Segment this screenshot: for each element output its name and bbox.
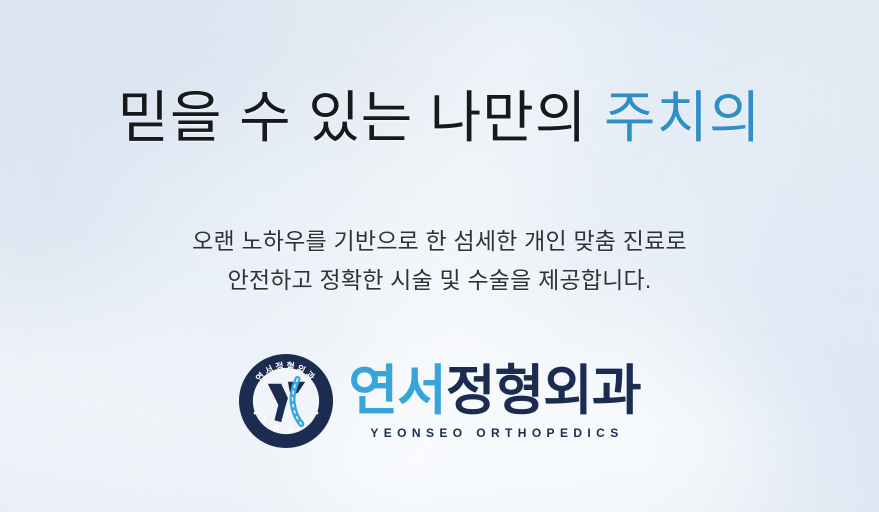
wordmark-part-light: 연서: [348, 361, 445, 421]
wordmark-part-dark: 정형외과: [446, 361, 641, 421]
subtitle: 오랜 노하우를 기반으로 한 섬세한 개인 맞춤 진료로 안전하고 정확한 시술…: [192, 222, 687, 301]
clinic-tagline: YEONSEO ORTHOPEDICS: [365, 426, 623, 440]
banner-content: 믿을 수 있는 나만의 주치의 오랜 노하우를 기반으로 한 섬세한 개인 맞춤…: [0, 0, 879, 512]
yeonseo-orthopedics-emblem-icon: 연서정형외과 Y S O S: [238, 353, 334, 449]
clinic-logo: 연서정형외과 Y S O S 연서정형외과 YEONSEO ORTHOPEDIC…: [238, 353, 640, 449]
promotional-banner: 믿을 수 있는 나만의 주치의 오랜 노하우를 기반으로 한 섬세한 개인 맞춤…: [0, 0, 879, 512]
subtitle-line-1: 오랜 노하우를 기반으로 한 섬세한 개인 맞춤 진료로: [192, 222, 687, 262]
headline-lead: 믿을 수 있는 나만의: [118, 86, 604, 149]
wordmark-text: 연서정형외과: [348, 364, 640, 418]
headline-accent: 주치의: [604, 86, 762, 149]
subtitle-line-2: 안전하고 정확한 시술 및 수술을 제공합니다.: [192, 261, 687, 301]
headline: 믿을 수 있는 나만의 주치의: [118, 86, 762, 150]
clinic-wordmark: 연서정형외과 YEONSEO ORTHOPEDICS: [348, 362, 640, 440]
